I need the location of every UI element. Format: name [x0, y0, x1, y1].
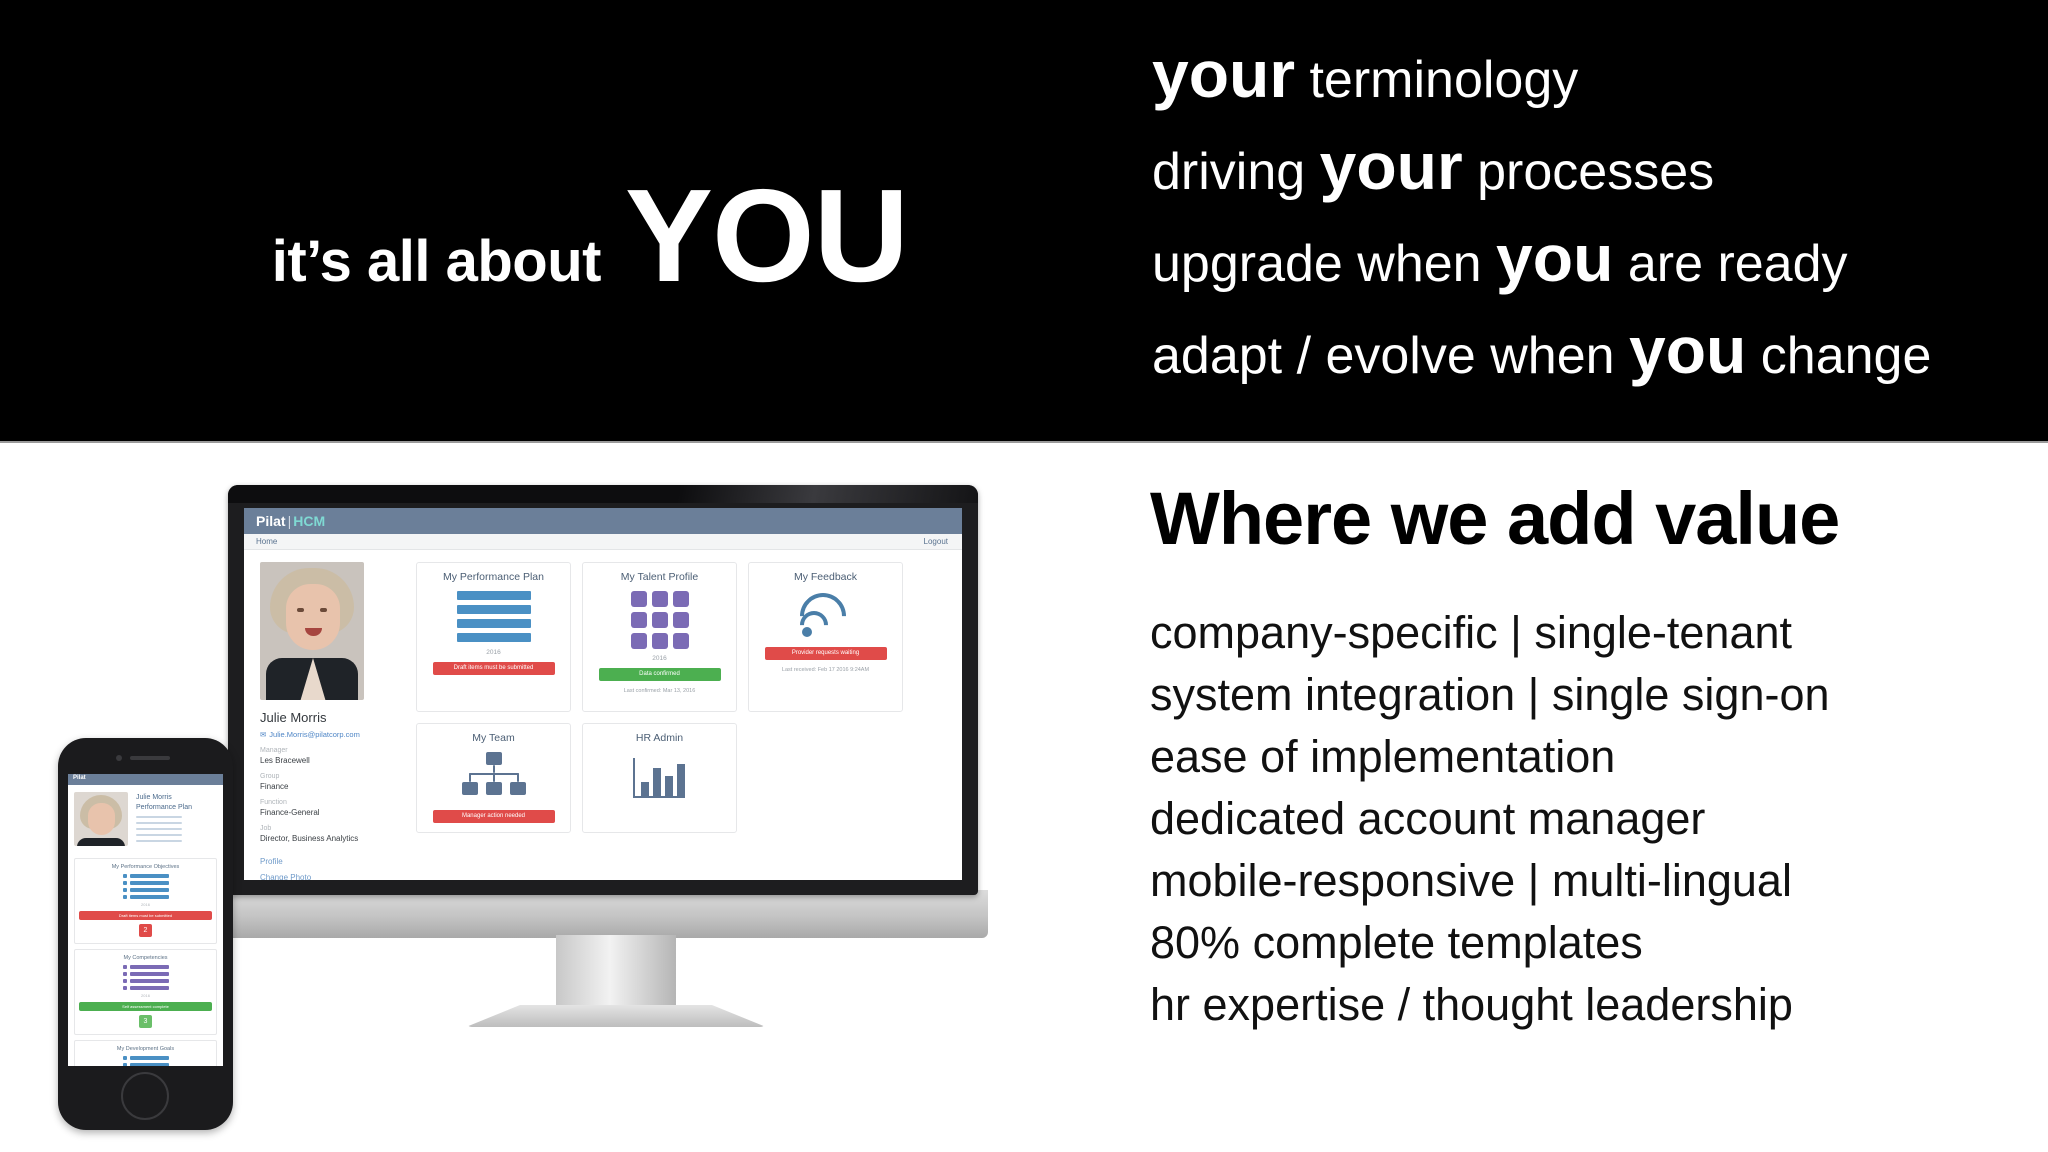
profile-field-group: Group Finance	[260, 773, 404, 791]
claim-item: adapt / evolve when you change	[1152, 304, 2048, 396]
card-title: My Performance Plan	[423, 571, 564, 583]
profile-panel: Julie Morris ✉Julie.Morris@pilatcorp.com…	[254, 562, 404, 880]
field-label: Function	[260, 799, 404, 806]
claim-item: driving your processes	[1152, 120, 2048, 212]
nav-logout-link[interactable]: Logout	[924, 537, 948, 546]
card-year: 2016	[423, 649, 564, 656]
claim-pre: driving	[1152, 143, 1320, 201]
profile-email-text: Julie.Morris@pilatcorp.com	[269, 730, 360, 739]
headline-prefix: it’s all about	[272, 229, 601, 294]
claim-item: your terminology	[1152, 28, 2048, 120]
nav-home-link[interactable]: Home	[256, 537, 277, 546]
slide-root: it’s all aboutYOU your terminology drivi…	[0, 0, 2048, 1152]
profile-field-manager: Manager Les Bracewell	[260, 747, 404, 765]
mobile-card-year: 2016	[79, 902, 212, 907]
app-logo[interactable]: Pilat|HCM	[256, 513, 325, 529]
desktop-app-screen: Pilat|HCM Home Logout	[244, 508, 962, 880]
claim-pre: upgrade when	[1152, 235, 1496, 293]
phone-speaker	[130, 756, 170, 760]
card-my-talent-profile[interactable]: My Talent Profile 2016 Data confirmed La…	[582, 562, 737, 712]
bars-list-icon	[457, 591, 531, 643]
card-row-top: My Performance Plan 2016 Draft items mus…	[416, 562, 952, 712]
field-value: Les Bracewell	[260, 756, 404, 765]
value-benefit-list: company-specific | single-tenant system …	[1150, 602, 2048, 1036]
bars-list-icon	[123, 1056, 169, 1066]
app-body: Julie Morris ✉Julie.Morris@pilatcorp.com…	[244, 550, 962, 880]
status-badge: Manager action needed	[433, 810, 555, 823]
grid-nine-icon	[629, 591, 691, 649]
mobile-count-chip: 3	[139, 1015, 152, 1028]
mobile-card-year: 2016	[79, 993, 212, 998]
mobile-logo: Pilat	[73, 775, 86, 781]
dashboard-cards: My Performance Plan 2016 Draft items mus…	[404, 562, 952, 880]
mobile-app-screen: Pilat Julie Morris Performance Plan My P…	[68, 774, 223, 1066]
card-my-feedback[interactable]: My Feedback Provider requests waiting La…	[748, 562, 903, 712]
claim-post: processes	[1463, 143, 1714, 201]
monitor-stand-foot	[466, 1005, 766, 1027]
profile-links: Profile Change Photo Help & Information	[260, 857, 404, 880]
avatar-eye-right	[320, 608, 327, 612]
mobile-link-list[interactable]	[136, 816, 192, 842]
value-section-title: Where we add value	[1150, 480, 2048, 558]
claim-highlight: your	[1152, 37, 1295, 111]
hero-black-band: it’s all aboutYOU your terminology drivi…	[0, 0, 2048, 443]
mobile-card-title: My Performance Objectives	[79, 864, 212, 870]
profile-name: Julie Morris	[260, 710, 404, 725]
claim-highlight: your	[1320, 129, 1463, 203]
phone-camera-icon	[116, 755, 122, 761]
value-list-item: company-specific | single-tenant	[1150, 602, 2048, 664]
hero-headline: it’s all aboutYOU	[0, 160, 960, 311]
card-my-performance-plan[interactable]: My Performance Plan 2016 Draft items mus…	[416, 562, 571, 712]
mobile-card-performance-objectives[interactable]: My Performance Objectives 2016 Draft ite…	[74, 858, 217, 944]
mobile-page-title: Performance Plan	[136, 804, 192, 811]
mobile-avatar[interactable]	[74, 792, 128, 846]
value-list-item: 80% complete templates	[1150, 912, 2048, 974]
value-list-item: dedicated account manager	[1150, 788, 2048, 850]
phone-home-button[interactable]	[121, 1072, 169, 1120]
field-value: Finance-General	[260, 808, 404, 817]
org-chart-icon	[459, 752, 529, 804]
card-title: My Talent Profile	[589, 571, 730, 583]
avatar-face	[88, 803, 115, 835]
value-list-item: hr expertise / thought leadership	[1150, 974, 2048, 1036]
avatar-face	[286, 584, 340, 650]
mobile-card-competencies[interactable]: My Competencies 2016 Self assessment com…	[74, 949, 217, 1035]
headline-emphasis: YOU	[625, 162, 908, 309]
mobile-phone-mockup: Pilat Julie Morris Performance Plan My P…	[58, 738, 233, 1130]
bar-chart-icon	[627, 752, 693, 804]
bars-list-icon	[123, 965, 169, 990]
profile-field-function: Function Finance-General	[260, 799, 404, 817]
mobile-status-bar: Self assessment complete	[79, 1002, 212, 1011]
mobile-profile-hero: Julie Morris Performance Plan	[68, 785, 223, 853]
monitor-chin	[218, 890, 988, 938]
card-meta: Last confirmed: Mar 13, 2016	[589, 688, 730, 694]
value-list-item: ease of implementation	[1150, 726, 2048, 788]
claim-highlight: you	[1496, 221, 1613, 295]
card-year: 2016	[589, 655, 730, 662]
claim-item: upgrade when you are ready	[1152, 212, 2048, 304]
mobile-count-chip: 2	[139, 924, 152, 937]
avatar-torso	[77, 838, 125, 846]
avatar-eye-left	[297, 608, 304, 612]
monitor-stand-neck	[556, 935, 676, 1013]
claim-pre: adapt / evolve when	[1152, 327, 1629, 385]
logo-suffix: HCM	[293, 513, 325, 529]
card-title: HR Admin	[589, 732, 730, 744]
logo-separator: |	[288, 513, 292, 529]
bars-list-icon	[123, 874, 169, 899]
claim-post: terminology	[1295, 51, 1578, 109]
status-badge: Draft items must be submitted	[433, 662, 555, 675]
claim-post: change	[1746, 327, 1931, 385]
profile-field-job: Job Director, Business Analytics	[260, 825, 404, 843]
profile-avatar[interactable]	[260, 562, 364, 700]
field-label: Job	[260, 825, 404, 832]
mobile-status-bar: Draft items must be submitted	[79, 911, 212, 920]
envelope-icon: ✉	[260, 730, 266, 739]
app-nav-bar: Home Logout	[244, 534, 962, 550]
status-badge: Provider requests waiting	[765, 647, 887, 660]
card-title: My Team	[423, 732, 564, 744]
mobile-card-title: My Competencies	[79, 955, 212, 961]
logo-brand: Pilat	[256, 513, 286, 529]
profile-email[interactable]: ✉Julie.Morris@pilatcorp.com	[260, 730, 404, 739]
mobile-profile-meta: Julie Morris Performance Plan	[128, 792, 192, 846]
card-my-team[interactable]: My Team	[416, 723, 571, 833]
profile-link-profile[interactable]: Profile	[260, 857, 404, 866]
claim-post: are ready	[1613, 235, 1847, 293]
mobile-card-development-goals[interactable]: My Development Goals	[74, 1040, 217, 1066]
card-meta: Last received: Feb 17 2016 9:24AM	[755, 667, 896, 673]
rss-signal-icon	[798, 591, 854, 641]
desktop-monitor-mockup: Pilat|HCM Home Logout	[228, 485, 978, 915]
value-list-item: system integration | single sign-on	[1150, 664, 2048, 726]
field-label: Group	[260, 773, 404, 780]
app-header-bar: Pilat|HCM	[244, 508, 962, 534]
card-row-bottom: My Team	[416, 723, 952, 833]
mobile-header-bar: Pilat	[68, 774, 223, 785]
field-value: Finance	[260, 782, 404, 791]
card-hr-admin[interactable]: HR Admin	[582, 723, 737, 833]
value-list-item: mobile-responsive | multi-lingual	[1150, 850, 2048, 912]
mobile-user-name: Julie Morris	[136, 794, 192, 801]
status-badge: Data confirmed	[599, 668, 721, 681]
claims-list: your terminology driving your processes …	[1152, 28, 2048, 396]
profile-link-change-photo[interactable]: Change Photo	[260, 873, 404, 880]
claim-highlight: you	[1629, 313, 1746, 387]
field-label: Manager	[260, 747, 404, 754]
mobile-card-title: My Development Goals	[79, 1046, 212, 1052]
value-section: Where we add value company-specific | si…	[1150, 480, 2048, 1036]
field-value: Director, Business Analytics	[260, 834, 404, 843]
card-title: My Feedback	[755, 571, 896, 583]
